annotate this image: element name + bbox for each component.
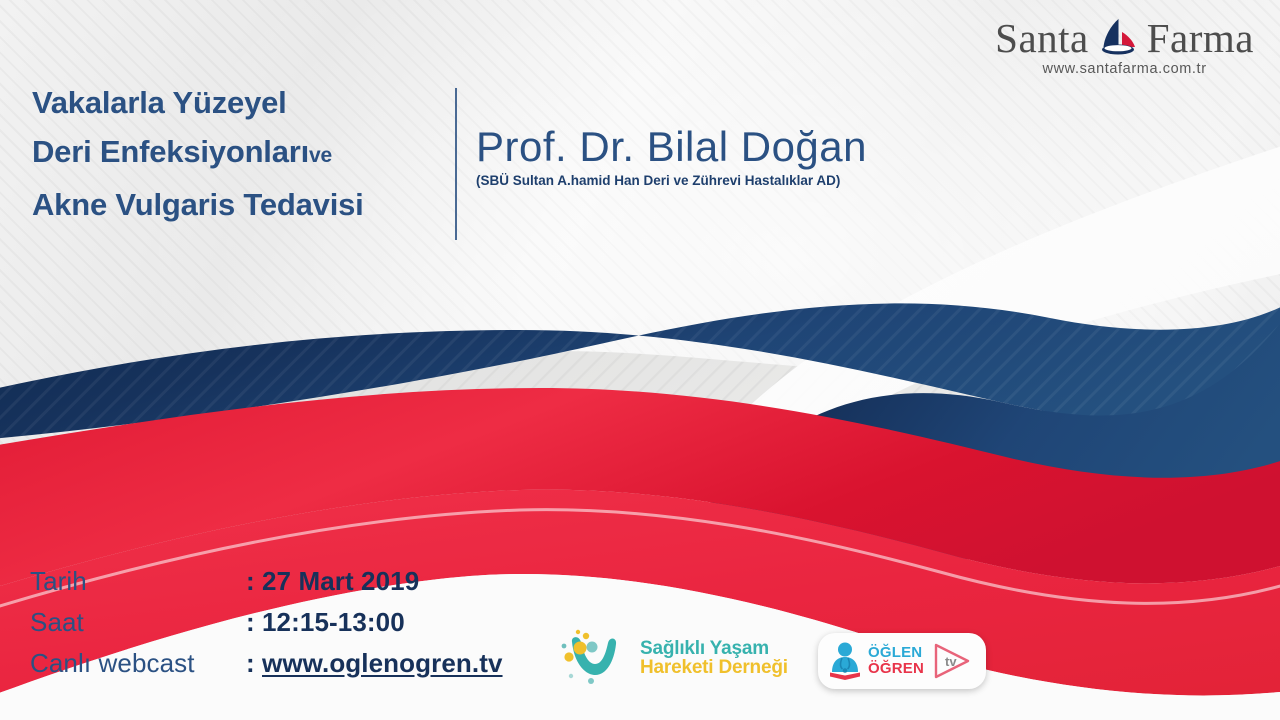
- oo-line-2: ÖĞREN: [868, 661, 924, 677]
- detail-value-time: 12:15-13:00: [262, 607, 405, 638]
- detail-label-webcast: Canlı webcast: [30, 648, 246, 679]
- speaker-name: Prof. Dr. Bilal Doğan: [476, 124, 867, 170]
- page-title: Vakalarla Yüzeyel Deri Enfeksiyonlarıve …: [32, 78, 442, 229]
- detail-colon-time: :: [246, 607, 262, 638]
- doctor-reading-book-icon: [827, 641, 863, 681]
- oo-tv-label: tv: [945, 654, 957, 669]
- event-details: Tarih : 27 Mart 2019 Saat : 12:15-13:00 …: [30, 566, 503, 689]
- detail-value-date: 27 Mart 2019: [262, 566, 419, 597]
- syd-wordmark: Sağlıklı Yaşam Hareketi Derneği: [640, 639, 788, 677]
- detail-value-webcast-link[interactable]: www.oglenogren.tv: [262, 648, 503, 679]
- title-line-2: Deri Enfeksiyonlarıve: [32, 127, 442, 180]
- oo-wordmark: ÖĞLEN ÖĞREN: [868, 645, 924, 677]
- santa-farma-logo[interactable]: Santa Farma www.santafarma.com.tr: [995, 16, 1254, 77]
- detail-row-webcast: Canlı webcast : www.oglenogren.tv: [30, 648, 503, 689]
- detail-colon-webcast: :: [246, 648, 262, 679]
- sailboat-icon: [1091, 16, 1145, 60]
- syd-line-2: Hareketi Derneği: [640, 658, 788, 677]
- detail-row-time: Saat : 12:15-13:00: [30, 607, 503, 648]
- syd-line-1: Sağlıklı Yaşam: [640, 639, 788, 658]
- speaker-block: Prof. Dr. Bilal Doğan (SBÜ Sultan A.hami…: [476, 124, 867, 190]
- brand-wordmark-row: Santa Farma: [995, 16, 1254, 60]
- oglen-ogren-tv-logo[interactable]: ÖĞLEN ÖĞREN tv: [818, 633, 986, 689]
- title-line-3: Akne Vulgaris Tedavisi: [32, 180, 442, 229]
- detail-colon-date: :: [246, 566, 262, 597]
- brand-word-santa: Santa: [995, 16, 1089, 60]
- title-speaker-divider: [455, 88, 457, 240]
- speaker-affiliation: (SBÜ Sultan A.hamid Han Deri ve Zührevi …: [476, 172, 867, 190]
- banner-stage: Vakalarla Yüzeyel Deri Enfeksiyonlarıve …: [0, 0, 1280, 720]
- brand-website-url[interactable]: www.santafarma.com.tr: [995, 61, 1254, 77]
- play-triangle-icon[interactable]: tv: [930, 641, 972, 681]
- saglikli-yasam-hareketi-dernegi-logo[interactable]: Sağlıklı Yaşam Hareketi Derneği: [556, 628, 788, 688]
- detail-label-time: Saat: [30, 607, 246, 638]
- brand-word-farma: Farma: [1147, 16, 1254, 60]
- oo-line-1: ÖĞLEN: [868, 645, 924, 661]
- title-line-2-main: Deri Enfeksiyonları: [32, 134, 309, 169]
- title-line-2-conjunction: ve: [309, 144, 332, 167]
- detail-label-date: Tarih: [30, 566, 246, 597]
- title-line-1: Vakalarla Yüzeyel: [32, 78, 442, 127]
- detail-row-date: Tarih : 27 Mart 2019: [30, 566, 503, 607]
- teal-swoosh-dots-icon: [556, 628, 634, 688]
